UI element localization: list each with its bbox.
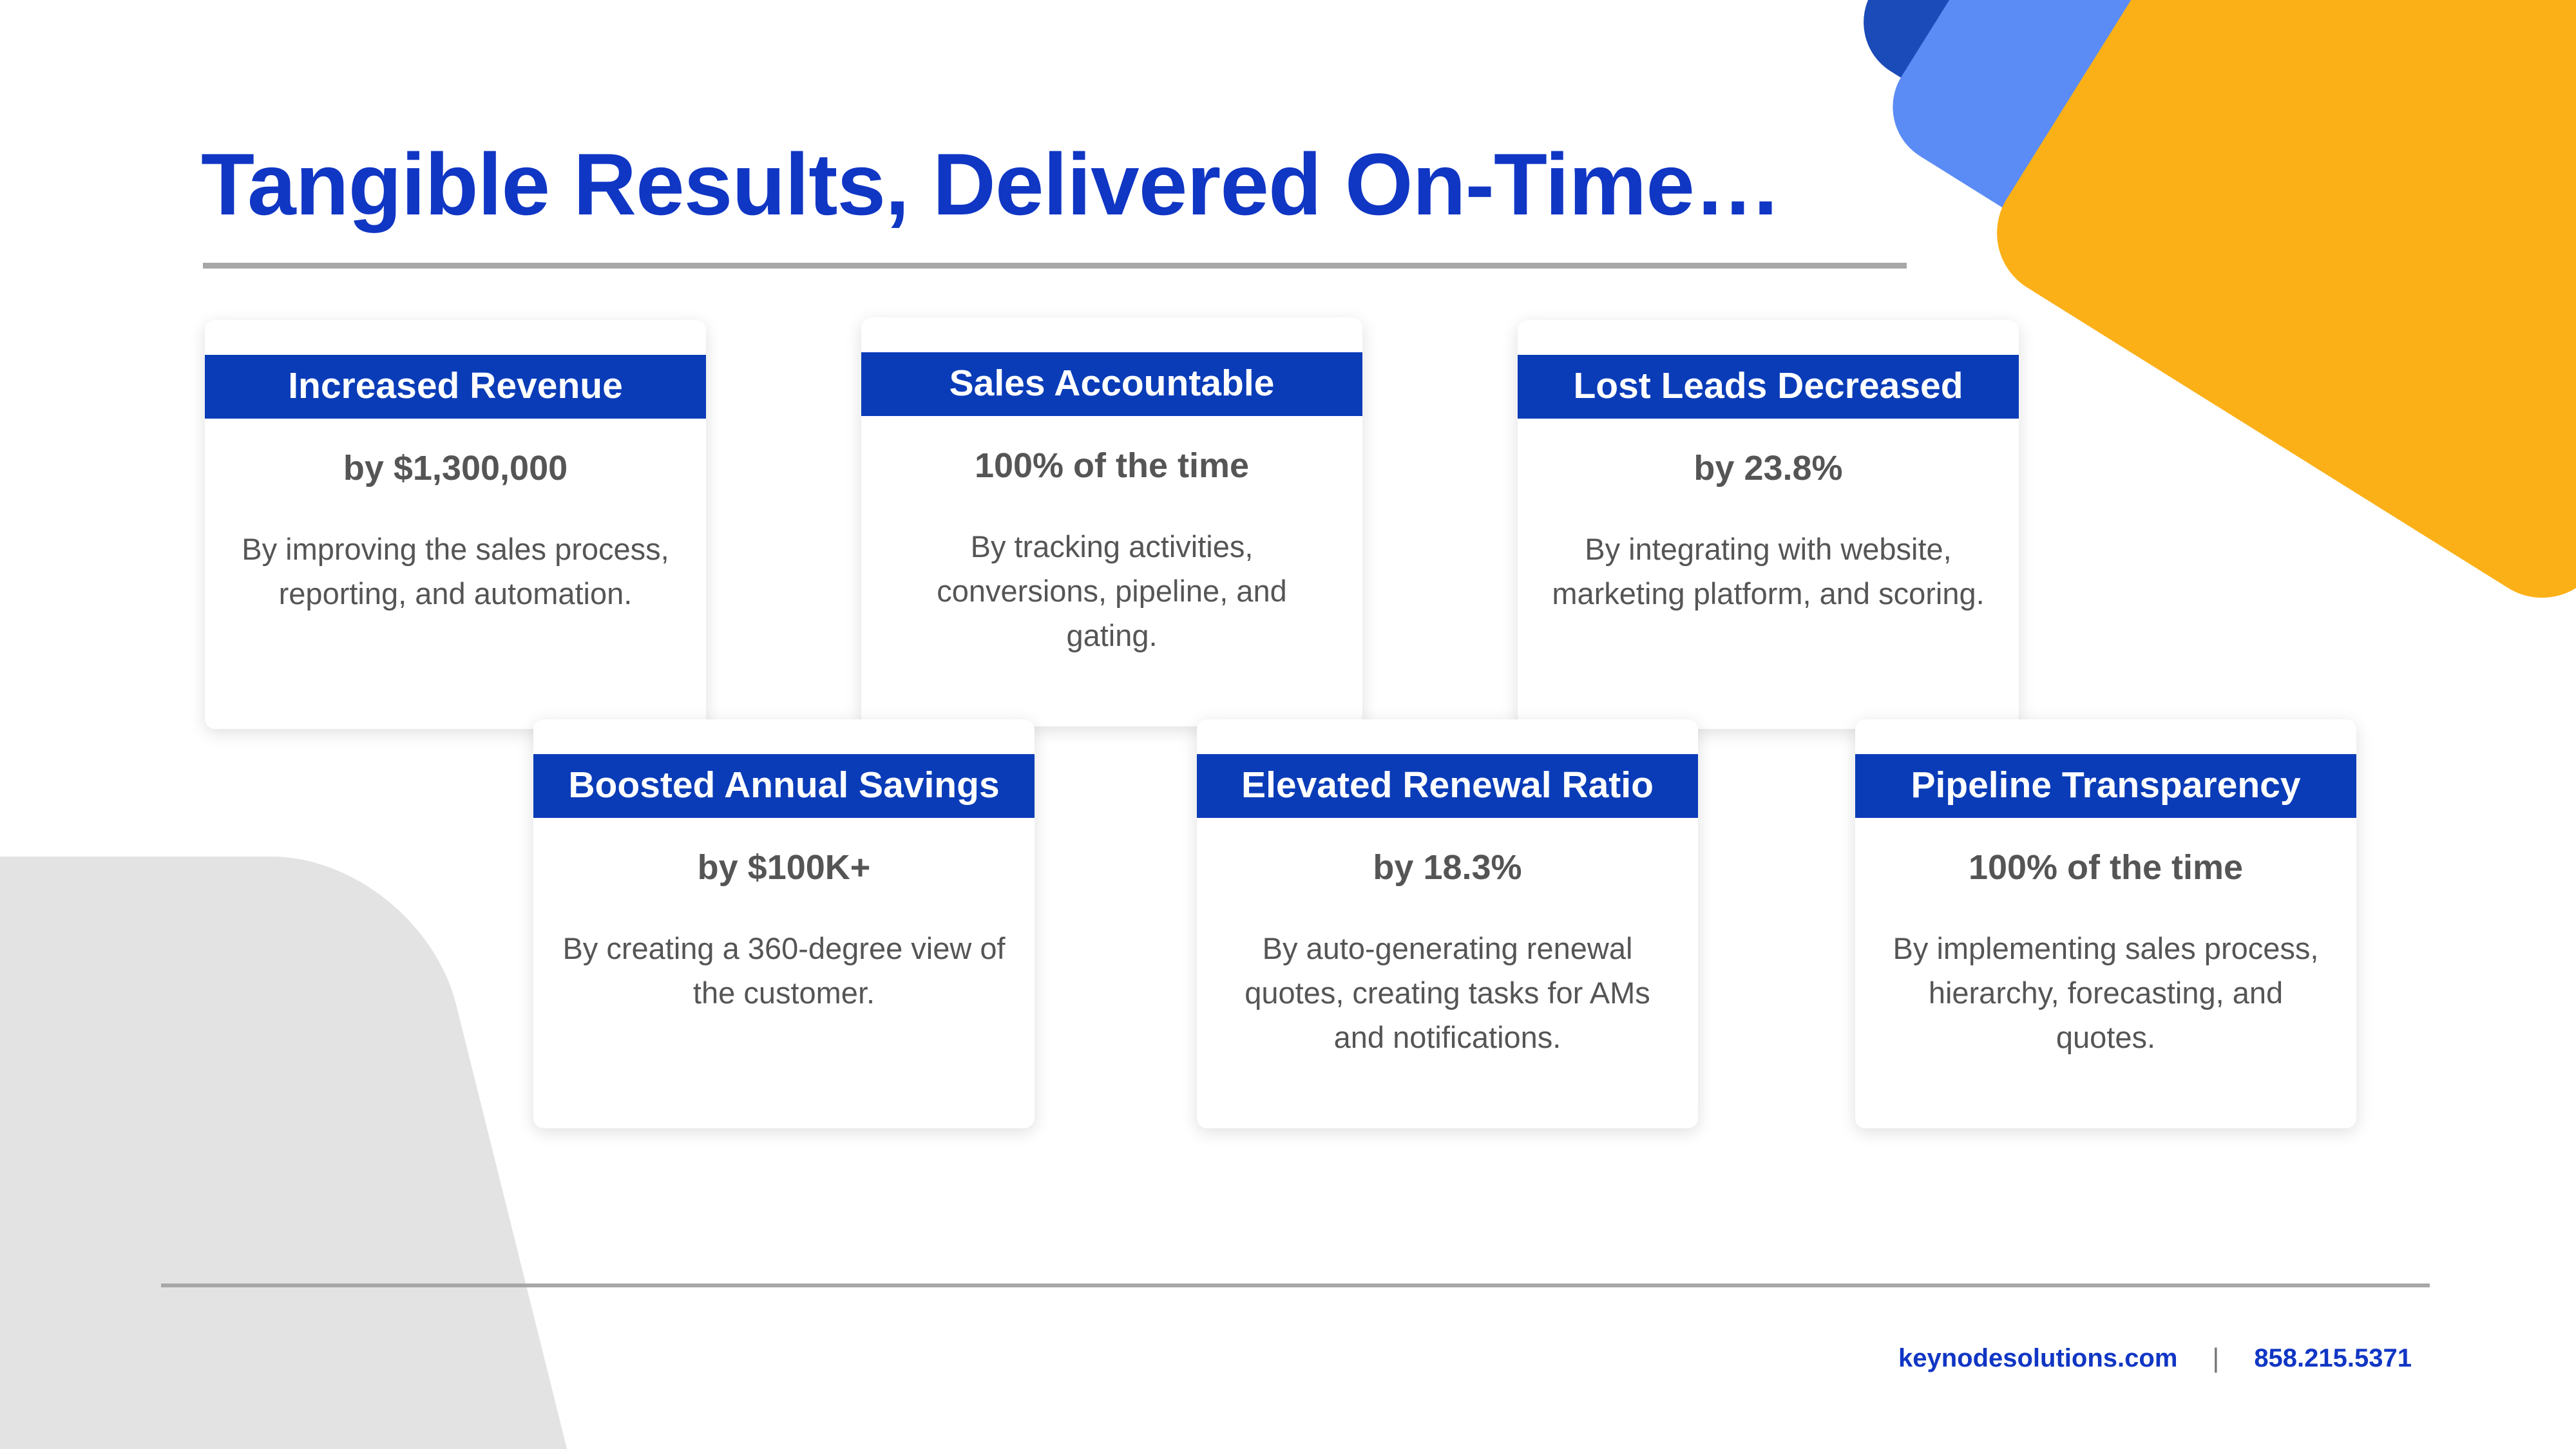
card-top-spacer (1855, 719, 2356, 754)
card-metric-value: by $1,300,000 (205, 450, 706, 488)
card-metric-value: by 23.8% (1518, 450, 2019, 488)
card-description: By tracking activities, conversions, pip… (861, 525, 1362, 658)
card-metric-value: by 18.3% (1197, 849, 1698, 887)
title-underline-rule (203, 263, 1907, 269)
card-header-label: Boosted Annual Savings (533, 754, 1035, 818)
card-description: By integrating with website, marketing p… (1518, 527, 2019, 616)
card-header-label: Lost Leads Decreased (1518, 355, 2019, 419)
card-header-label: Elevated Renewal Ratio (1197, 754, 1698, 818)
card-description: By creating a 360-degree view of the cus… (533, 927, 1035, 1015)
result-card-lost-leads-decreased[interactable]: Lost Leads Decreased by 23.8% By integra… (1518, 320, 2019, 729)
card-top-spacer (205, 320, 706, 355)
card-top-spacer (533, 719, 1035, 754)
card-top-spacer (1518, 320, 2019, 355)
slide-title: Tangible Results, Delivered On-Time… (201, 138, 1781, 231)
card-header-label: Increased Revenue (205, 355, 706, 419)
card-top-spacer (861, 317, 1362, 352)
footer-divider-rule (161, 1283, 2430, 1287)
card-top-spacer (1197, 719, 1698, 754)
result-card-increased-revenue[interactable]: Increased Revenue by $1,300,000 By impro… (205, 320, 706, 729)
footer-website-link[interactable]: keynodesolutions.com (1898, 1344, 2177, 1373)
footer-contact-info: keynodesolutions.com | 858.215.5371 (1898, 1343, 2412, 1374)
footer-phone-number[interactable]: 858.215.5371 (2254, 1344, 2412, 1373)
card-description: By implementing sales process, hierarchy… (1855, 927, 2356, 1059)
card-metric-value: 100% of the time (1855, 849, 2356, 887)
slide-content: Tangible Results, Delivered On-Time… Inc… (0, 0, 2576, 1449)
card-description: By improving the sales process, reportin… (205, 527, 706, 616)
result-card-pipeline-transparency[interactable]: Pipeline Transparency 100% of the time B… (1855, 719, 2356, 1128)
footer-separator: | (2212, 1343, 2219, 1374)
card-header-label: Sales Accountable (861, 352, 1362, 416)
card-metric-value: 100% of the time (861, 447, 1362, 485)
result-card-boosted-annual-savings[interactable]: Boosted Annual Savings by $100K+ By crea… (533, 719, 1035, 1128)
slide-canvas: Tangible Results, Delivered On-Time… Inc… (0, 0, 2576, 1449)
card-header-label: Pipeline Transparency (1855, 754, 2356, 818)
card-metric-value: by $100K+ (533, 849, 1035, 887)
result-card-sales-accountable[interactable]: Sales Accountable 100% of the time By tr… (861, 317, 1362, 726)
result-card-elevated-renewal-ratio[interactable]: Elevated Renewal Ratio by 18.3% By auto-… (1197, 719, 1698, 1128)
card-description: By auto-generating renewal quotes, creat… (1197, 927, 1698, 1059)
